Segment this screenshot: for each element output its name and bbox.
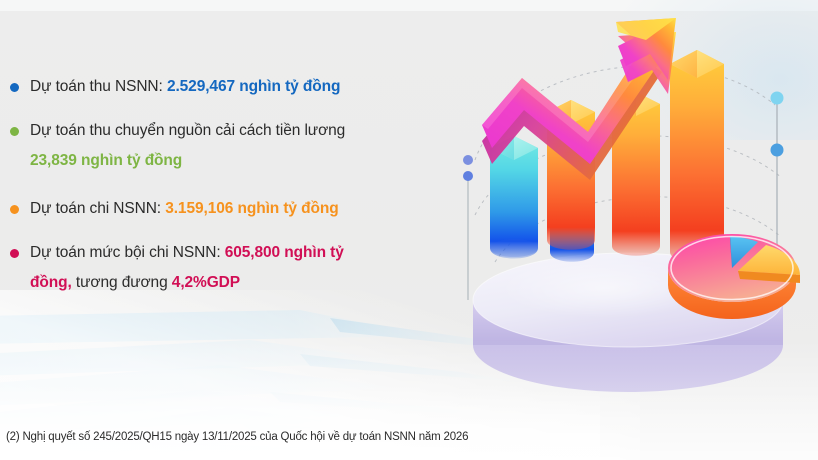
bar-5 xyxy=(670,50,724,263)
guide-line-right xyxy=(771,92,784,263)
chart-illustration xyxy=(440,0,818,420)
bullet-value: 4,2%GDP xyxy=(172,274,240,291)
bullet-line: Dự toán chi NSNN: 3.159,106 nghìn tỷ đồn… xyxy=(30,194,440,224)
list-item: Dự toán thu chuyển nguồn cải cách tiền l… xyxy=(0,116,440,176)
bullet-value: 2.529,467 nghìn tỷ đồng xyxy=(167,78,340,95)
footnote: (2) Nghị quyết số 245/2025/QH15 ngày 13/… xyxy=(6,431,468,443)
bullet-label: Dự toán thu chuyển nguồn cải cách tiền l… xyxy=(30,122,345,139)
bullet-line: đồng, tương đương 4,2%GDP xyxy=(30,268,440,298)
infographic-canvas: Dự toán thu NSNN: 2.529,467 nghìn tỷ đồn… xyxy=(0,0,818,460)
list-item: Dự toán thu NSNN: 2.529,467 nghìn tỷ đồn… xyxy=(0,72,440,102)
bullet-dot-icon xyxy=(10,127,19,136)
list-item: Dự toán chi NSNN: 3.159,106 nghìn tỷ đồn… xyxy=(0,194,440,224)
pie-chart xyxy=(668,234,800,319)
dot-icon xyxy=(463,171,473,181)
dot-icon xyxy=(463,155,473,165)
bullet-line: Dự toán mức bội chi NSNN: 605,800 nghìn … xyxy=(30,238,440,268)
bullet-label: Dự toán thu NSNN: xyxy=(30,78,167,95)
bullet-dot-icon xyxy=(10,83,19,92)
bullet-value: 23,839 nghìn tỷ đồng xyxy=(30,152,182,169)
bullet-value: 605,800 nghìn tỷ xyxy=(225,244,344,261)
dot-icon xyxy=(771,144,784,157)
guide-line-left xyxy=(463,155,473,300)
bullet-dot-icon xyxy=(10,205,19,214)
bullet-line: 23,839 nghìn tỷ đồng xyxy=(30,146,440,176)
bullet-line: Dự toán thu chuyển nguồn cải cách tiền l… xyxy=(30,116,440,146)
bullet-line: Dự toán thu NSNN: 2.529,467 nghìn tỷ đồn… xyxy=(30,72,440,102)
dot-icon xyxy=(771,92,784,105)
bullet-list: Dự toán thu NSNN: 2.529,467 nghìn tỷ đồn… xyxy=(0,72,440,298)
bullet-value: 3.159,106 nghìn tỷ đồng xyxy=(165,200,338,217)
bullet-label: Dự toán mức bội chi NSNN: xyxy=(30,244,225,261)
bullet-label: Dự toán chi NSNN: xyxy=(30,200,165,217)
bullet-value: đồng, xyxy=(30,274,72,291)
list-item: Dự toán mức bội chi NSNN: 605,800 nghìn … xyxy=(0,238,440,298)
bullet-label: tương đương xyxy=(72,274,172,291)
bullet-dot-icon xyxy=(10,249,19,258)
